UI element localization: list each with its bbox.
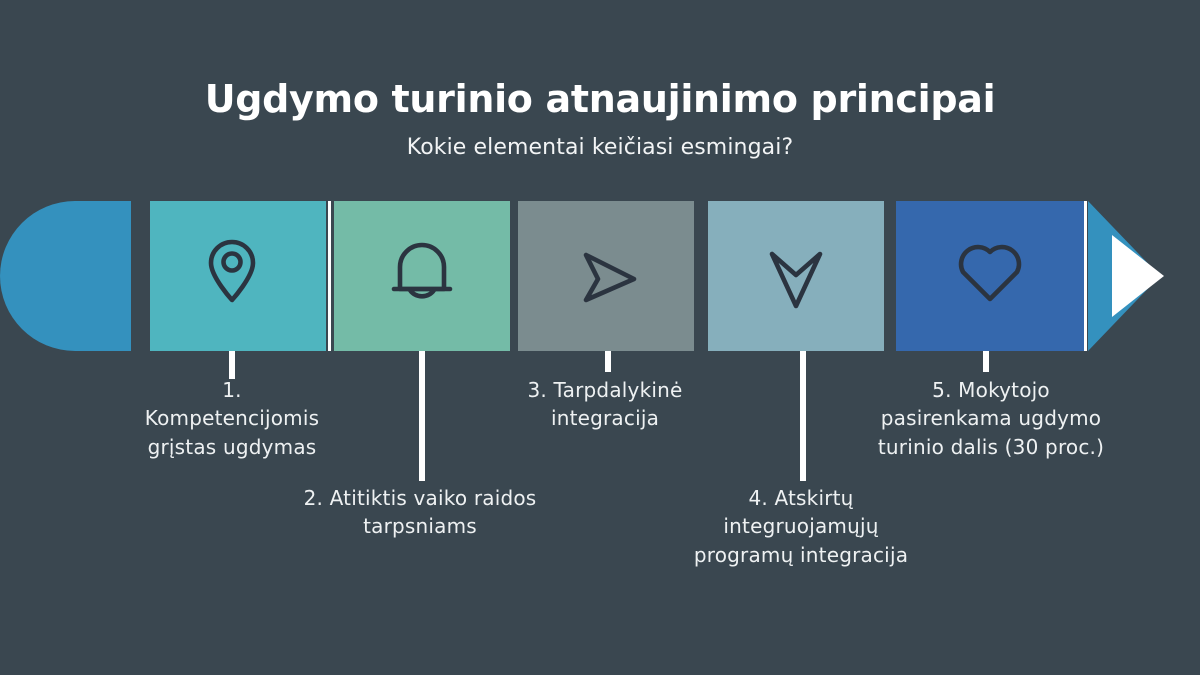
connector-tick-1 [229,351,235,379]
label-1: 1. Kompetencijomis grįstas ugdymas [92,376,372,461]
process-banner [0,201,1200,351]
label-5: 5. Mokytojo pasirenkama ugdymo turinio d… [846,376,1136,461]
banner-left-cap [0,201,131,351]
banner-segment-3[interactable] [518,201,694,351]
banner-arrow-tip [1112,235,1164,317]
slide-canvas: Ugdymo turinio atnaujinimo principai Kok… [0,0,1200,675]
banner-segment-2[interactable] [334,201,510,351]
label-3: 3. Tarpdalykinė integracija [479,376,731,433]
connector-tick-3 [605,351,611,372]
label-2: 2. Atitiktis vaiko raidos tarpsniams [274,484,566,541]
connector-tick-4 [800,351,806,481]
banner-separator [1084,201,1087,351]
slide-header: Ugdymo turinio atnaujinimo principai Kok… [0,78,1200,160]
banner-segment-5[interactable] [896,201,1084,351]
connector-tick-5 [983,351,989,372]
banner-segment-1[interactable] [150,201,326,351]
connector-tick-2 [419,351,425,481]
page-title: Ugdymo turinio atnaujinimo principai [0,78,1200,122]
page-subtitle: Kokie elementai keičiasi esmingai? [0,135,1200,160]
label-4: 4. Atskirtų integruojamųjų programų inte… [637,484,965,569]
banner-separator [328,201,331,351]
